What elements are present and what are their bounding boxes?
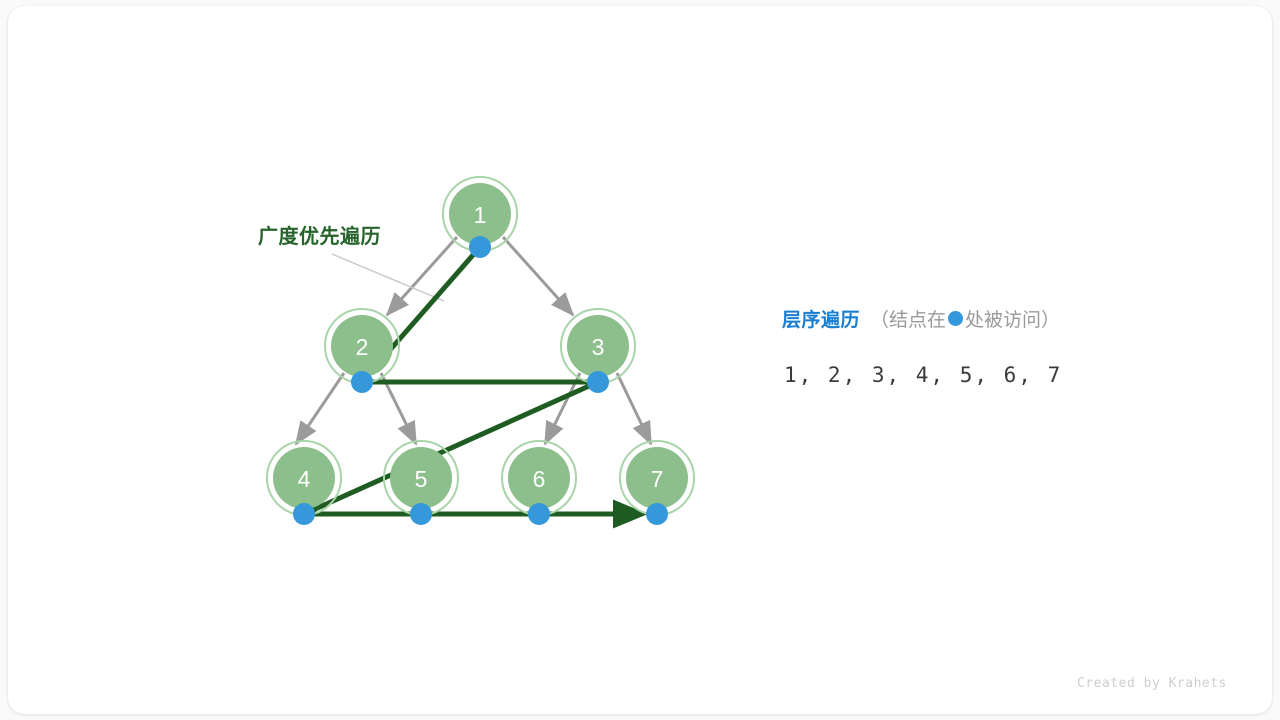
visit-dot-node-4[interactable] <box>293 503 315 525</box>
node-label: 4 <box>298 466 311 492</box>
legend-note-prefix: （结点在 <box>870 305 946 332</box>
traversal-sequence: 1, 2, 3, 4, 5, 6, 7 <box>784 363 1062 387</box>
visit-dot-node-7[interactable] <box>646 503 668 525</box>
visit-dot-node-6[interactable] <box>528 503 550 525</box>
legend: 层序遍历 （结点在 处被访问） <box>782 305 1060 332</box>
node-label: 1 <box>474 202 487 228</box>
tree-edge-3-7 <box>617 373 651 444</box>
visit-dot-node-1[interactable] <box>469 236 491 258</box>
legend-note: （结点在 处被访问） <box>870 305 1060 332</box>
caption-leader-line <box>332 254 444 301</box>
binary-tree-bfs-diagram: 1 2 3 4 5 <box>8 6 1272 714</box>
node-label: 7 <box>651 466 664 492</box>
legend-note-suffix: 处被访问） <box>965 305 1060 332</box>
legend-title: 层序遍历 <box>782 305 860 332</box>
tree-edge-1-3 <box>503 237 573 315</box>
node-label: 3 <box>592 334 605 360</box>
node-label: 6 <box>533 466 546 492</box>
blue-circle-dot-icon <box>948 311 963 326</box>
diagram-stage: 1 2 3 4 5 <box>8 6 1272 714</box>
credit-text: Created by Krahets <box>1077 676 1227 691</box>
bfs-caption-label: 广度优先遍历 <box>258 220 381 249</box>
node-label: 5 <box>415 466 428 492</box>
slide-card: 1 2 3 4 5 <box>8 6 1272 714</box>
visit-dot-node-5[interactable] <box>410 503 432 525</box>
node-label: 2 <box>356 334 369 360</box>
tree-edge-2-4 <box>296 373 344 444</box>
visit-dot-node-2[interactable] <box>351 371 373 393</box>
visit-dot-node-3[interactable] <box>587 371 609 393</box>
tree-edge-1-2 <box>387 237 457 315</box>
